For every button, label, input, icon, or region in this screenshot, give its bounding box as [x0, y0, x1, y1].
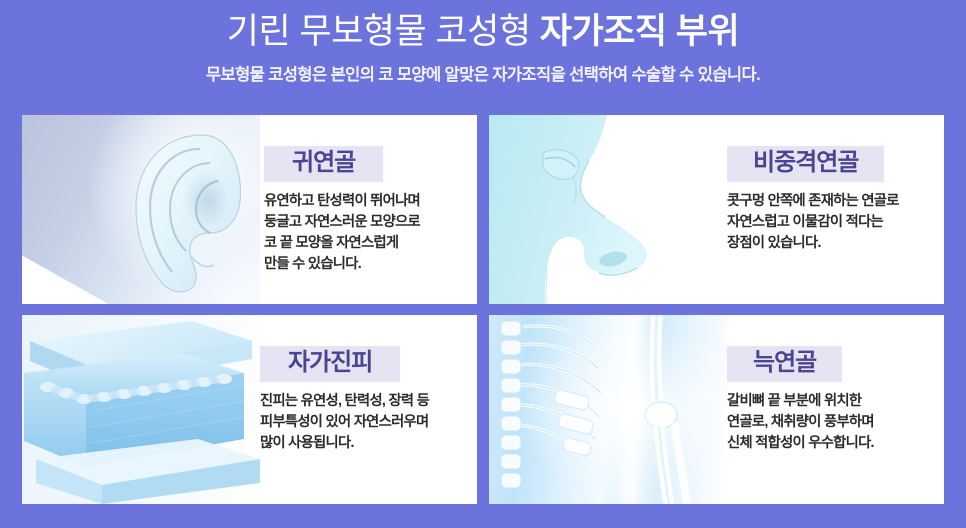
card-dermis-badge: 자가진피 — [260, 346, 400, 382]
card-rib-text: 늑연골 갈비뼈 끝 부분에 위치한 연골로, 채취량이 풍부하며 신체 적합성이… — [727, 315, 944, 504]
desc-line: 만들 수 있습니다. — [264, 254, 467, 275]
nose-profile-photo — [489, 115, 727, 304]
desc-line: 피부특성이 있어 자연스러우며 — [260, 412, 467, 433]
infographic-page: 기린 무보형물 코성형 자가조직 부위 무보형물 코성형은 본인의 코 모양에 … — [0, 0, 966, 528]
skeleton-ribcage-icon — [489, 315, 727, 504]
card-septal-badge: 비중격연골 — [727, 146, 884, 182]
desc-line: 둥글고 자연스러운 모양으로 — [264, 212, 467, 233]
card-septal-cartilage[interactable]: 비중격연골 콧구멍 안쪽에 존재하는 연골로 자연스럽고 이물감이 적다는 장점… — [489, 115, 944, 304]
desc-line: 콧구멍 안쪽에 존재하는 연골로 — [727, 191, 934, 212]
desc-line: 갈비뼈 끝 부분에 위치한 — [727, 391, 934, 412]
card-autologous-dermis[interactable]: 자가진피 진피는 유연성, 탄력성, 장력 등 피부특성이 있어 자연스러우며 … — [22, 315, 477, 504]
page-subtitle: 무보형물 코성형은 본인의 코 모양에 알맞은 자가조직을 선택하여 수술할 수… — [0, 61, 966, 85]
card-rib-badge: 늑연골 — [727, 346, 842, 382]
card-dermis-description: 진피는 유연성, 탄력성, 장력 등 피부특성이 있어 자연스러우며 많이 사용… — [260, 391, 467, 454]
card-dermis-text: 자가진피 진피는 유연성, 탄력성, 장력 등 피부특성이 있어 자연스러우며 … — [260, 315, 477, 504]
desc-line: 자연스럽고 이물감이 적다는 — [727, 212, 934, 233]
dermis-layer-diagram — [22, 315, 260, 504]
card-septal-text: 비중격연골 콧구멍 안쪽에 존재하는 연골로 자연스럽고 이물감이 적다는 장점… — [727, 115, 944, 304]
header: 기린 무보형물 코성형 자가조직 부위 무보형물 코성형은 본인의 코 모양에 … — [0, 0, 966, 85]
desc-line: 장점이 있습니다. — [727, 233, 934, 254]
page-title: 기린 무보형물 코성형 자가조직 부위 — [0, 14, 966, 51]
desc-line: 신체 적합성이 우수합니다. — [727, 433, 934, 454]
card-ear-description: 유연하고 탄성력이 뛰어나며 둥글고 자연스러운 모양으로 코 끝 모양을 자연… — [264, 191, 467, 275]
ribcage-xray-photo — [489, 315, 727, 504]
ear-cartilage-photo — [22, 115, 260, 304]
card-ear-text: 귀연골 유연하고 탄성력이 뛰어나며 둥글고 자연스러운 모양으로 코 끝 모양… — [260, 115, 477, 304]
desc-line: 연골로, 채취량이 풍부하며 — [727, 412, 934, 433]
card-rib-cartilage[interactable]: 늑연골 갈비뼈 끝 부분에 위치한 연골로, 채취량이 풍부하며 신체 적합성이… — [489, 315, 944, 504]
card-ear-cartilage[interactable]: 귀연골 유연하고 탄성력이 뛰어나며 둥글고 자연스러운 모양으로 코 끝 모양… — [22, 115, 477, 304]
desc-line: 많이 사용됩니다. — [260, 433, 467, 454]
desc-line: 진피는 유연성, 탄력성, 장력 등 — [260, 391, 467, 412]
skin-layer-block-icon — [22, 315, 260, 504]
card-septal-description: 콧구멍 안쪽에 존재하는 연골로 자연스럽고 이물감이 적다는 장점이 있습니다… — [727, 191, 934, 254]
card-grid: 귀연골 유연하고 탄성력이 뛰어나며 둥글고 자연스러운 모양으로 코 끝 모양… — [22, 115, 944, 504]
ear-illustration — [114, 129, 260, 297]
desc-line: 코 끝 모양을 자연스럽게 — [264, 233, 467, 254]
card-rib-description: 갈비뼈 끝 부분에 위치한 연골로, 채취량이 풍부하며 신체 적합성이 우수합… — [727, 391, 934, 454]
ear-shape-icon — [114, 129, 260, 297]
page-title-normal: 기린 무보형물 코성형 — [227, 12, 540, 51]
nose-profile-icon — [489, 115, 727, 304]
page-title-emphasis: 자가조직 부위 — [540, 12, 739, 51]
card-ear-badge: 귀연골 — [264, 146, 383, 182]
desc-line: 유연하고 탄성력이 뛰어나며 — [264, 191, 467, 212]
xray-light-glow — [609, 315, 657, 504]
